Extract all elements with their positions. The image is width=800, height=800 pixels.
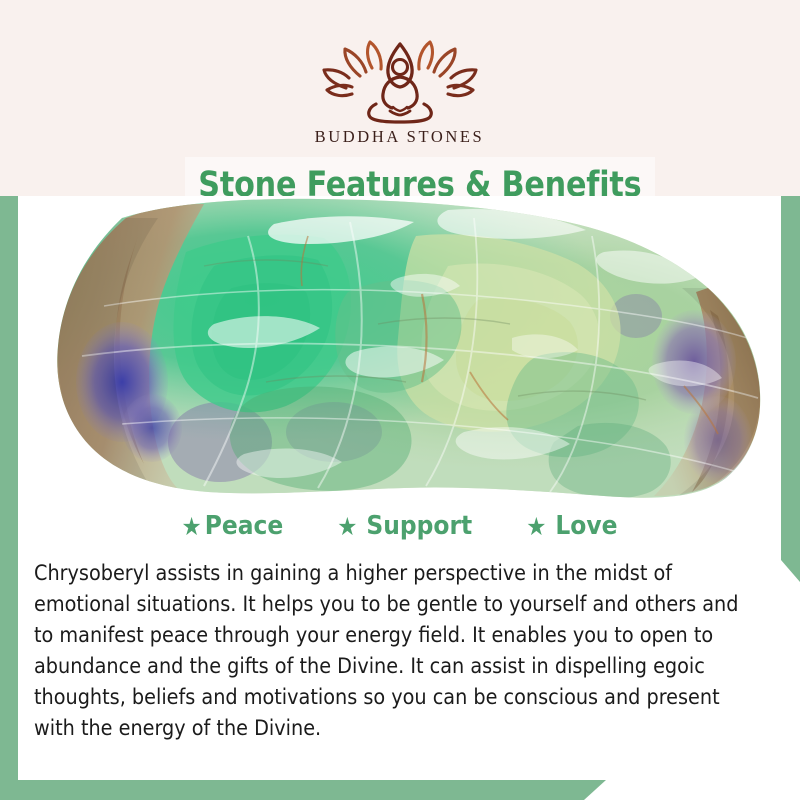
- keyword-love: ★ Love: [526, 511, 617, 541]
- keyword-peace: ★ Peace: [182, 511, 284, 541]
- star-icon: ★: [337, 514, 357, 539]
- frame-border-left: [0, 168, 18, 800]
- brand-logo: BUDDHA STONES: [18, 40, 781, 147]
- stone-photo: Chrysoberyl（Cat's Eye）: [18, 196, 781, 502]
- stone-description: Chrysoberyl assists in gaining a higher …: [34, 558, 750, 744]
- keyword-label: Love: [555, 511, 617, 541]
- stone-specimen-illustration: [18, 196, 781, 502]
- infographic-card: BUDDHA STONES Stone Features & Benefits: [0, 0, 800, 800]
- keyword-label: Peace: [205, 511, 284, 541]
- keyword-support: ★ Support: [337, 511, 472, 541]
- keyword-label: Support: [366, 511, 472, 541]
- keyword-list: ★ Peace ★ Support ★ Love: [18, 511, 781, 541]
- star-icon: ★: [526, 514, 546, 539]
- header-section: BUDDHA STONES Stone Features & Benefits: [0, 0, 800, 196]
- brand-name: BUDDHA STONES: [315, 127, 485, 147]
- lotus-meditation-figure-icon: [316, 40, 484, 124]
- header-background: BUDDHA STONES Stone Features & Benefits: [18, 18, 781, 196]
- frame-border-bottom: [0, 780, 606, 800]
- star-icon: ★: [182, 514, 202, 539]
